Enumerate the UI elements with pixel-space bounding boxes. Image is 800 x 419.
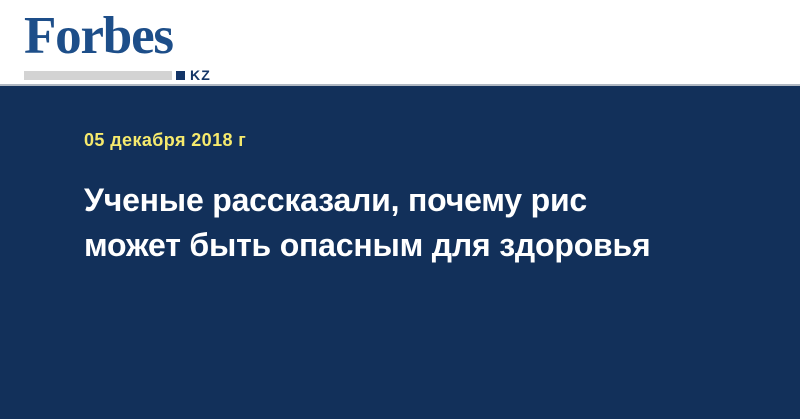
- forbes-wordmark: Forbes: [24, 8, 173, 64]
- logo-rule-icon: [24, 71, 172, 80]
- forbes-kz-logo[interactable]: Forbes KZ: [24, 8, 224, 80]
- article-preview-card: Forbes KZ 05 декабря 2018 г Ученые расск…: [0, 0, 800, 419]
- site-header: Forbes KZ: [0, 0, 800, 86]
- article-body: 05 декабря 2018 г Ученые рассказали, поч…: [0, 86, 800, 419]
- article-date: 05 декабря 2018 г: [84, 130, 704, 150]
- article-headline[interactable]: Ученые рассказали, почему рис может быть…: [84, 178, 684, 268]
- article-content: 05 декабря 2018 г Ученые рассказали, поч…: [84, 86, 704, 289]
- logo-square-icon: [176, 71, 185, 80]
- logo-kz-suffix: KZ: [190, 68, 211, 82]
